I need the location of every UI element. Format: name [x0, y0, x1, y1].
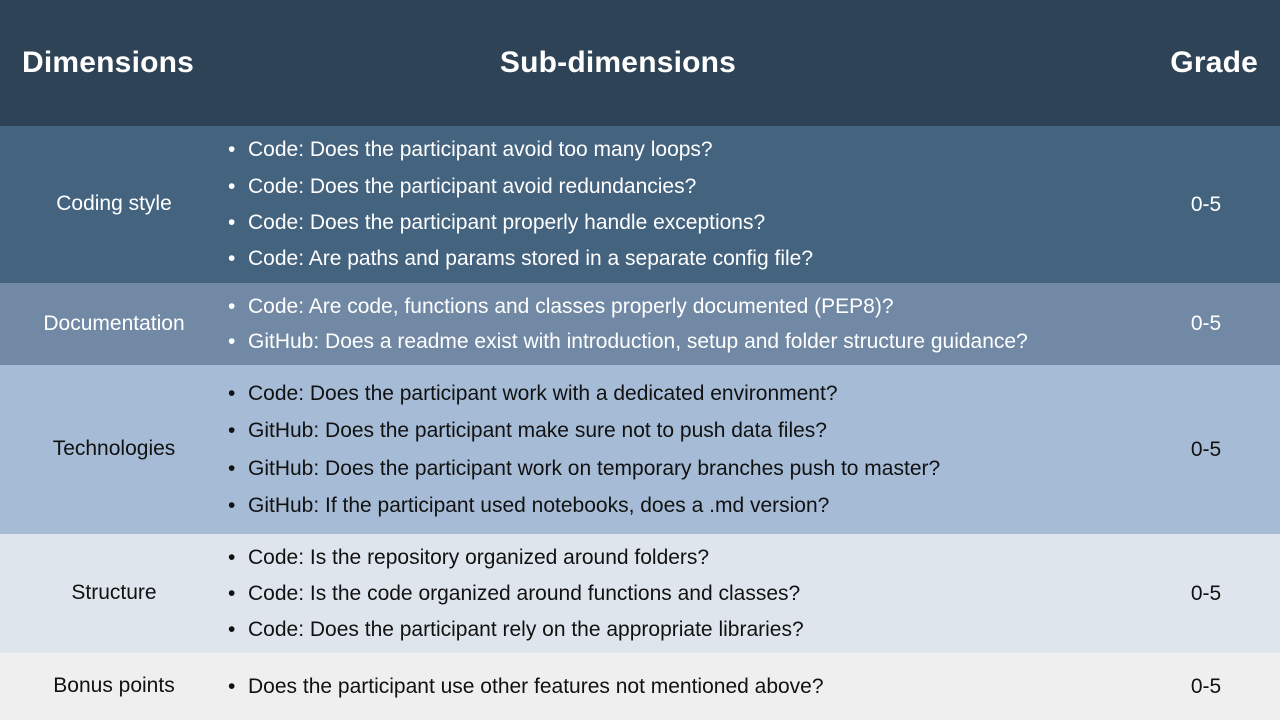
table-row: Bonus points Does the participant use ot…	[0, 653, 1280, 720]
table-row: Coding style Code: Does the participant …	[0, 126, 1280, 283]
table-header-row: Dimensions Sub-dimensions Grade	[0, 0, 1280, 126]
subdimension-list: Code: Are code, functions and classes pr…	[228, 293, 1130, 355]
subdimension-list: Code: Is the repository organized around…	[228, 544, 1130, 644]
list-item: Code: Is the code organized around funct…	[228, 580, 1130, 607]
subdimension-cell: Does the participant use other features …	[228, 673, 1140, 700]
rubric-table: Dimensions Sub-dimensions Grade Coding s…	[0, 0, 1280, 720]
list-item: GitHub: Does the participant work on tem…	[228, 455, 1130, 482]
dimension-name: Technologies	[0, 436, 228, 462]
list-item: Code: Are code, functions and classes pr…	[228, 293, 1130, 320]
column-header-grade: Grade	[1120, 46, 1280, 80]
subdimension-list: Code: Does the participant work with a d…	[228, 380, 1130, 519]
list-item: GitHub: If the participant used notebook…	[228, 492, 1130, 519]
dimension-name: Documentation	[0, 311, 228, 337]
table-row: Technologies Code: Does the participant …	[0, 365, 1280, 534]
list-item: Code: Does the participant rely on the a…	[228, 616, 1130, 643]
column-header-dimensions: Dimensions	[0, 46, 228, 80]
dimension-name: Structure	[0, 580, 228, 606]
grade-value: 0-5	[1140, 675, 1280, 699]
list-item: GitHub: Does a readme exist with introdu…	[228, 328, 1130, 355]
list-item: Code: Does the participant avoid redunda…	[228, 173, 1130, 200]
list-item: Does the participant use other features …	[228, 673, 1130, 700]
list-item: Code: Does the participant avoid too man…	[228, 136, 1130, 163]
list-item: Code: Is the repository organized around…	[228, 544, 1130, 571]
list-item: GitHub: Does the participant make sure n…	[228, 417, 1130, 444]
subdimension-cell: Code: Does the participant avoid too man…	[228, 127, 1140, 281]
list-item: Code: Does the participant properly hand…	[228, 209, 1130, 236]
grade-value: 0-5	[1140, 438, 1280, 462]
dimension-name: Coding style	[0, 191, 228, 217]
list-item: Code: Does the participant work with a d…	[228, 380, 1130, 407]
subdimension-list: Does the participant use other features …	[228, 673, 1130, 700]
table-row: Documentation Code: Are code, functions …	[0, 283, 1280, 365]
dimension-name: Bonus points	[0, 673, 228, 699]
subdimension-list: Code: Does the participant avoid too man…	[228, 136, 1130, 272]
subdimension-cell: Code: Are code, functions and classes pr…	[228, 286, 1140, 362]
table-row: Structure Code: Is the repository organi…	[0, 534, 1280, 653]
grade-value: 0-5	[1140, 312, 1280, 336]
grade-value: 0-5	[1140, 582, 1280, 606]
column-header-subdimensions: Sub-dimensions	[228, 46, 1120, 80]
grade-value: 0-5	[1140, 193, 1280, 217]
subdimension-cell: Code: Is the repository organized around…	[228, 535, 1140, 653]
subdimension-cell: Code: Does the participant work with a d…	[228, 370, 1140, 529]
list-item: Code: Are paths and params stored in a s…	[228, 245, 1130, 272]
